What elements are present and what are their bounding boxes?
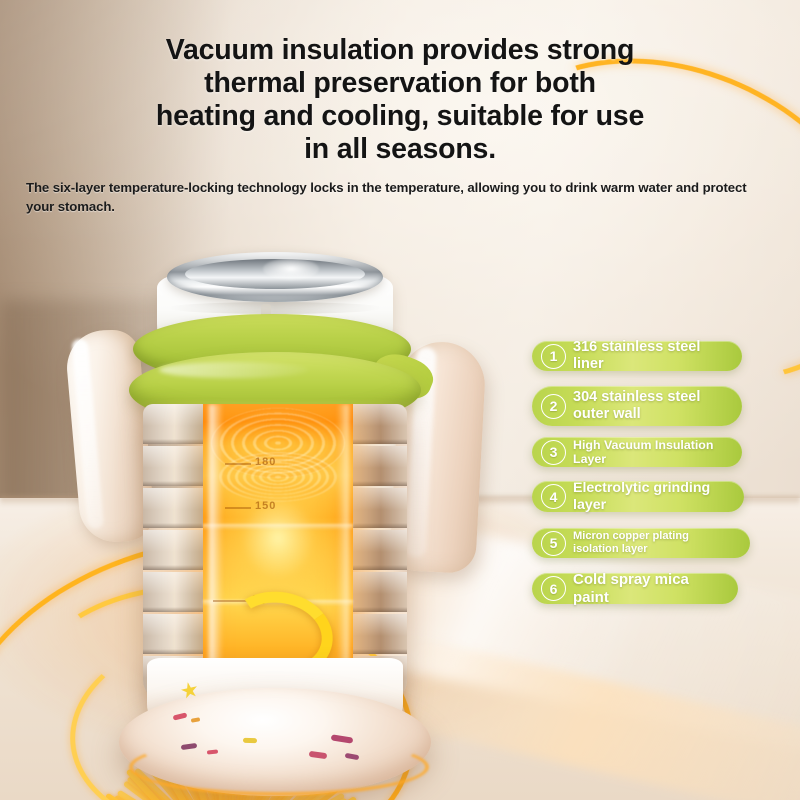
- feature-number-badge: 4: [541, 484, 566, 509]
- feature-number-badge: 2: [541, 394, 566, 419]
- product-marketing-graphic: 180 150 60 Vacuum insulation provides st…: [0, 0, 800, 800]
- feature-pill-3[interactable]: 3 High Vacuum Insulation Layer: [532, 437, 742, 467]
- feature-number-badge: 5: [541, 531, 566, 556]
- feature-number-badge: 1: [541, 344, 566, 369]
- feature-label: 304 stainless steel outer wall: [573, 389, 700, 422]
- feature-number-badge: 6: [541, 576, 566, 601]
- feature-label: Cold spray mica paint: [573, 571, 724, 605]
- feature-label: Electrolytic grinding layer: [573, 480, 730, 512]
- feature-pill-6[interactable]: 6 Cold spray mica paint: [532, 573, 738, 604]
- feature-label: 316 stainless steel liner: [573, 339, 728, 372]
- feature-pill-2[interactable]: 2 304 stainless steel outer wall: [532, 386, 742, 426]
- feature-list: 1 316 stainless steel liner 2 304 stainl…: [0, 0, 800, 800]
- feature-label: High Vacuum Insulation Layer: [573, 438, 728, 466]
- feature-pill-5[interactable]: 5 Micron copper plating isolation layer: [532, 528, 750, 558]
- feature-label: Micron copper plating isolation layer: [573, 530, 736, 555]
- feature-number-badge: 3: [541, 440, 566, 465]
- feature-pill-4[interactable]: 4 Electrolytic grinding layer: [532, 481, 744, 512]
- feature-pill-1[interactable]: 1 316 stainless steel liner: [532, 341, 742, 371]
